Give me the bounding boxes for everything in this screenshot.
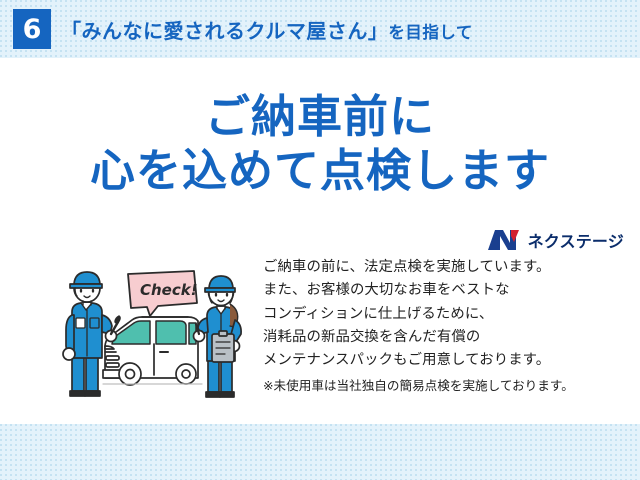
body-copy: ご納車の前に、法定点検を実施しています。 また、お客様の大切なお車をベストな コ… (263, 256, 574, 396)
step-number-badge: 6 (13, 9, 51, 49)
mechanic-female (194, 276, 242, 397)
mechanics-illustration: Check! (62, 260, 262, 405)
nextage-n-logo-icon (487, 229, 521, 251)
header: 6 「みんなに愛されるクルマ屋さん」 を目指して (0, 0, 640, 58)
headline-line-1: ご納車前に (0, 92, 640, 142)
body-note: ※未使用車は当社独自の簡易点検を実施しております。 (263, 376, 574, 396)
header-title: 「みんなに愛されるクルマ屋さん」 を目指して (61, 15, 473, 44)
check-bubble-text: Check! (140, 281, 198, 299)
brand-name: ネクステージ (528, 228, 624, 252)
body-line: ご納車の前に、法定点検を実施しています。 (263, 256, 574, 279)
header-title-main: 「みんなに愛されるクルマ屋さん」 (61, 15, 388, 44)
body-line: 消耗品の新品交換を含んだ有償の (263, 326, 574, 349)
page-headline: ご納車前に 心を込めて点検します (0, 92, 640, 197)
body-line: また、お客様の大切なお車をベストな (263, 279, 574, 302)
body-line: メンテナンスパックもご用意しております。 (263, 349, 574, 372)
footer-band (0, 424, 640, 480)
mechanics-illustration-svg: Check! (62, 260, 262, 405)
clipboard-icon (212, 331, 234, 362)
van-graphic (103, 317, 202, 385)
brand-logo: ネクステージ (487, 228, 624, 252)
headline-line-2: 心を込めて点検します (0, 146, 640, 196)
header-title-sub: を目指して (388, 19, 473, 43)
body-line: コンディションに仕上げるために、 (263, 303, 574, 326)
advertisement-page: 6 「みんなに愛されるクルマ屋さん」 を目指して ご納車前に 心を込めて点検しま… (0, 0, 640, 480)
